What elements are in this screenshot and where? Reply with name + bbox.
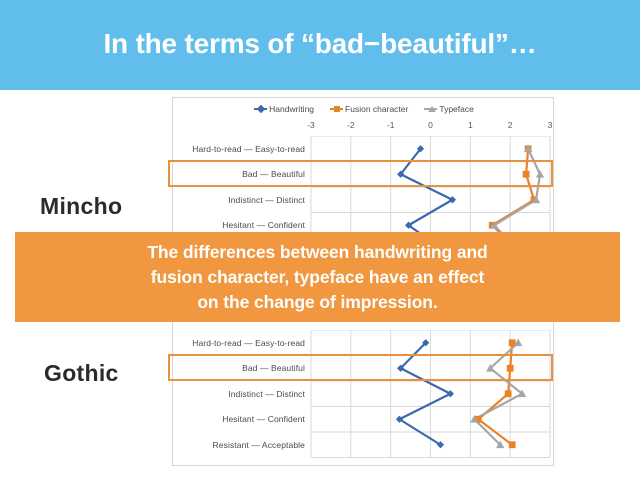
triangle-marker-icon xyxy=(424,108,437,110)
legend-item-typeface: Typeface xyxy=(424,104,474,114)
chart-row-label: Indistinct — Distinct xyxy=(173,195,305,205)
callout-line-3: on the change of impression. xyxy=(197,290,437,315)
chart-gothic: Hard-to-read — Easy-to-readBad — Beautif… xyxy=(173,330,555,458)
x-axis-ticks-mincho: -3-2-10123 xyxy=(173,120,555,134)
chart-legend: Handwriting Fusion character Typeface xyxy=(173,104,555,114)
legend-label: Fusion character xyxy=(345,104,408,114)
chart-row-label: Hesitant — Confident xyxy=(173,414,305,424)
chart-row-label: Bad — Beautiful xyxy=(173,169,305,179)
chart-row-label: Hard-to-read — Easy-to-read xyxy=(173,338,305,348)
legend-label: Handwriting xyxy=(269,104,314,114)
x-tick-label: 1 xyxy=(468,120,473,130)
chart-row-label: Resistant — Acceptable xyxy=(173,440,305,450)
callout-box: The differences between handwriting and … xyxy=(15,232,620,322)
square-marker-icon xyxy=(330,108,343,110)
section-label-gothic: Gothic xyxy=(44,360,119,387)
callout-line-1: The differences between handwriting and xyxy=(147,240,487,265)
slide-canvas: In the terms of “bad−beautiful”… Mincho … xyxy=(0,0,640,480)
chart-row-label: Hesitant — Confident xyxy=(173,220,305,230)
chart-row-label: Indistinct — Distinct xyxy=(173,389,305,399)
x-tick-label: 0 xyxy=(428,120,433,130)
x-tick-label: 2 xyxy=(508,120,513,130)
x-tick-label: -2 xyxy=(347,120,355,130)
x-tick-label: -1 xyxy=(387,120,395,130)
x-tick-label: 3 xyxy=(548,120,553,130)
diamond-marker-icon xyxy=(254,108,267,110)
legend-label: Typeface xyxy=(439,104,474,114)
callout-line-2: fusion character, typeface have an effec… xyxy=(151,265,484,290)
chart-row-label: Bad — Beautiful xyxy=(173,363,305,373)
legend-item-handwriting: Handwriting xyxy=(254,104,314,114)
legend-item-fusion-character: Fusion character xyxy=(330,104,408,114)
page-title: In the terms of “bad−beautiful”… xyxy=(0,28,640,60)
section-label-mincho: Mincho xyxy=(40,193,122,220)
x-tick-label: -3 xyxy=(307,120,315,130)
chart-row-label: Hard-to-read — Easy-to-read xyxy=(173,144,305,154)
